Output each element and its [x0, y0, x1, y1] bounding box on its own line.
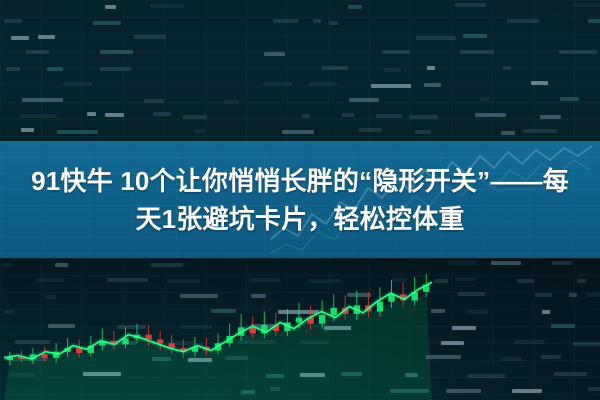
noise-chip	[10, 373, 34, 377]
noise-chip	[100, 67, 131, 71]
noise-chip	[188, 358, 212, 362]
noise-chip	[266, 374, 284, 378]
noise-chip	[349, 98, 379, 102]
noise-chip	[93, 21, 121, 25]
noise-chip	[448, 261, 476, 265]
noise-chip	[57, 130, 98, 134]
noise-chip	[455, 277, 475, 281]
noise-chip	[302, 114, 310, 118]
noise-chip	[531, 81, 548, 85]
top-data-noise-band	[0, 0, 600, 141]
noise-chip	[151, 263, 183, 267]
noise-chip	[309, 82, 337, 86]
noise-chip	[224, 100, 239, 104]
title-line-1: 91快牛 10个让你悄悄长胖的“隐形开关”——每	[31, 163, 569, 199]
noise-chip	[150, 4, 184, 8]
title-text-block: 91快牛 10个让你悄悄长胖的“隐形开关”——每 天1张避坑卡片，轻松控体重	[0, 141, 600, 258]
noise-chip	[21, 128, 34, 132]
noise-chip	[359, 128, 382, 132]
noise-chip	[514, 340, 545, 344]
noise-chip	[382, 50, 410, 54]
noise-chip	[535, 293, 552, 297]
noise-chip	[11, 36, 29, 40]
noise-chip	[105, 113, 124, 117]
noise-chip	[341, 372, 362, 376]
noise-chip	[105, 5, 116, 9]
noise-chip	[251, 294, 266, 298]
noise-chip	[6, 67, 20, 71]
noise-chip	[569, 293, 577, 297]
noise-chip	[475, 113, 506, 117]
noise-chip	[491, 261, 521, 265]
noise-chip	[63, 82, 92, 86]
noise-chip	[347, 293, 371, 297]
noise-chip	[322, 66, 348, 70]
noise-chip	[167, 279, 200, 283]
noise-chip	[313, 19, 321, 23]
noise-chip	[278, 310, 319, 314]
noise-chip	[426, 355, 461, 359]
noise-chip	[225, 356, 248, 360]
noise-chip	[45, 295, 56, 299]
noise-chip	[183, 115, 207, 119]
noise-chip	[392, 278, 407, 282]
noise-chip	[152, 357, 171, 361]
noise-chip	[416, 36, 456, 40]
noise-chip	[238, 340, 277, 344]
noise-chip	[117, 325, 146, 329]
title-line-2: 天1张避坑卡片，轻松控体重	[135, 201, 464, 237]
noise-chip	[390, 389, 429, 393]
noise-chip	[309, 279, 341, 283]
noise-chip	[107, 278, 148, 282]
noise-chip	[3, 310, 15, 314]
noise-chip	[342, 113, 354, 117]
noise-chip	[263, 82, 292, 86]
noise-chip	[507, 19, 539, 23]
noise-chip	[588, 19, 600, 23]
noise-chip	[55, 263, 68, 267]
top-ticker-noise	[0, 0, 600, 141]
noise-chip	[463, 34, 487, 38]
noise-chip	[87, 112, 96, 116]
noise-chip	[431, 309, 445, 313]
noise-chip	[144, 99, 164, 103]
noise-chip	[282, 130, 314, 134]
noise-chip	[47, 67, 63, 71]
noise-chip	[251, 324, 279, 328]
noise-chip	[424, 83, 441, 87]
noise-chip	[588, 387, 600, 391]
noise-chip	[573, 3, 600, 7]
noise-chip	[554, 372, 587, 376]
noise-chip	[376, 114, 402, 118]
noise-chip	[503, 66, 511, 70]
bottom-ticker-noise	[0, 258, 600, 400]
noise-chip	[523, 129, 557, 133]
noise-chip	[83, 372, 121, 376]
noise-chip	[95, 341, 136, 345]
noise-chip	[446, 389, 481, 393]
noise-chip	[300, 373, 325, 377]
noise-chip	[194, 129, 205, 133]
noise-chip	[264, 52, 285, 56]
noise-chip	[512, 389, 542, 393]
noise-chip	[20, 114, 57, 118]
noise-chip	[586, 293, 600, 297]
noise-chip	[384, 68, 401, 72]
noise-chip	[37, 278, 65, 282]
chart-grid-columns	[0, 258, 600, 400]
noise-chip	[100, 50, 133, 54]
noise-chip	[552, 261, 572, 265]
chart-grid-rows	[0, 258, 600, 400]
noise-chip	[434, 279, 448, 283]
noise-chip	[452, 326, 476, 330]
noise-chip	[458, 292, 485, 296]
noise-chip	[134, 35, 166, 39]
noise-chip	[501, 357, 522, 361]
noise-chip	[4, 19, 22, 23]
noise-chip	[573, 342, 600, 346]
noise-chip	[22, 98, 63, 102]
noise-chip	[348, 5, 362, 9]
noise-chip	[48, 324, 75, 328]
noise-chip	[466, 310, 488, 314]
noise-chip	[211, 309, 236, 313]
noise-chip	[270, 387, 280, 391]
noise-chip	[250, 278, 280, 282]
noise-chip	[180, 294, 218, 298]
noise-chip	[559, 50, 597, 54]
noise-chip	[540, 115, 561, 119]
noise-chip	[577, 279, 586, 283]
noise-chip	[541, 355, 561, 359]
banner-image: 91快牛 10个让你悄悄长胖的“隐形开关”——每 天1张避坑卡片，轻松控体重	[0, 0, 600, 400]
noise-chip	[441, 341, 464, 345]
noise-chip	[241, 390, 255, 394]
noise-chip	[38, 35, 55, 39]
noise-chip	[405, 373, 418, 377]
noise-chip	[427, 66, 435, 70]
top-grid-columns	[0, 0, 600, 141]
noise-chip	[467, 374, 505, 378]
noise-chip	[2, 263, 11, 267]
noise-chip	[371, 84, 411, 88]
title-banner: 91快牛 10个让你悄悄长胖的“隐形开关”——每 天1张避坑卡片，轻松控体重	[0, 141, 600, 258]
noise-chip	[153, 112, 171, 116]
noise-chip	[517, 279, 534, 283]
noise-chip	[329, 21, 338, 25]
noise-chip	[324, 326, 351, 330]
noise-chip	[15, 340, 50, 344]
noise-chip	[169, 341, 194, 345]
noise-chip	[542, 310, 550, 314]
noise-chip	[26, 50, 49, 54]
noise-chip	[560, 97, 579, 101]
noise-chip	[460, 50, 494, 54]
top-grid-rows	[0, 0, 600, 141]
noise-chip	[273, 19, 298, 23]
noise-chip	[455, 3, 486, 7]
noise-chip	[480, 97, 490, 101]
noise-chip	[180, 325, 212, 329]
noise-chip	[551, 324, 575, 328]
bottom-chart-band	[0, 258, 600, 400]
noise-chip	[299, 340, 329, 344]
noise-chip	[501, 131, 515, 135]
noise-chip	[415, 130, 431, 134]
noise-chip	[409, 115, 438, 119]
noise-chip	[14, 357, 48, 361]
